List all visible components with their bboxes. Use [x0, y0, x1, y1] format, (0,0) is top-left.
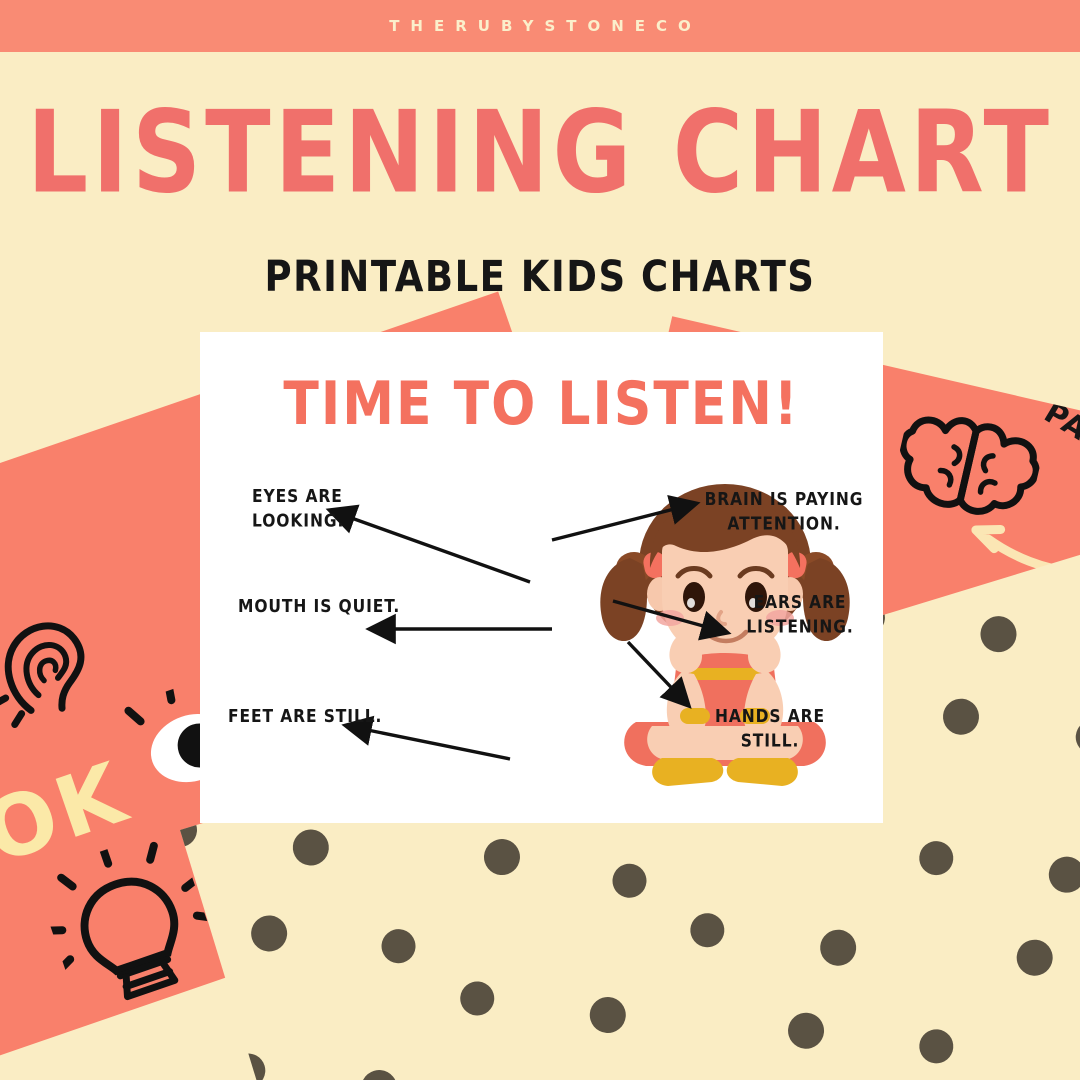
page-subtitle: PRINTABLE KIDS CHARTS [0, 252, 1080, 301]
label-ears-are-listening: EARS ARE LISTENING. [730, 590, 870, 640]
poster-canvas: LI LOOK LIS [0, 0, 1080, 1080]
label-feet-are-still: FEET ARE STILL. [228, 704, 382, 729]
brand-name: THERUBYSTONECO [378, 17, 702, 35]
label-brain-is-paying-attention: BRAIN IS PAYING ATTENTION. [704, 487, 864, 537]
printable-chart-card: TIME TO LISTEN! [200, 332, 883, 823]
ear-icon [0, 592, 121, 748]
page-title: LISTENING CHART [0, 96, 1080, 209]
label-hands-are-still: HANDS ARE STILL. [700, 704, 840, 754]
brand-banner: THERUBYSTONECO [0, 0, 1080, 52]
label-mouth-is-quiet: MOUTH IS QUIET. [238, 594, 400, 619]
label-eyes-are-looking: EYES ARE LOOKING. [252, 484, 344, 534]
